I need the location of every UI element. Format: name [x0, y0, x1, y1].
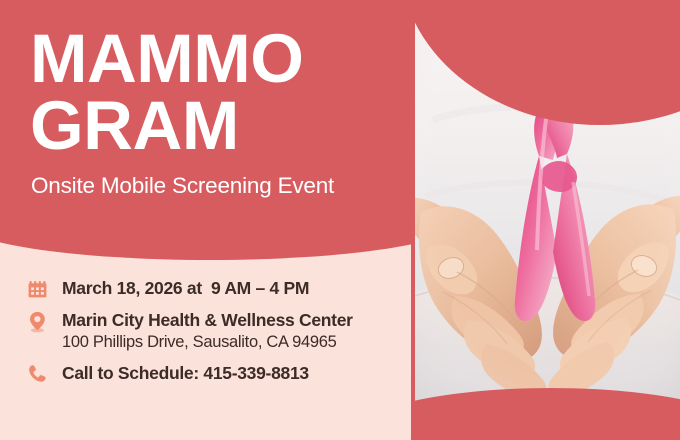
page-title: MAMMO GRAM — [30, 26, 400, 160]
subtitle: Onsite Mobile Screening Event — [31, 174, 400, 199]
event-date-time: March 18, 2026 at 9 AM – 4 PM — [62, 278, 403, 299]
calendar-icon — [28, 278, 62, 298]
venue-name: Marin City Health & Wellness Center — [62, 310, 403, 331]
detail-row-date: March 18, 2026 at 9 AM – 4 PM — [28, 278, 403, 299]
phone-icon — [28, 363, 62, 383]
schedule-phone-number: Call to Schedule: 415-339-8813 — [62, 363, 403, 384]
detail-text-phone: Call to Schedule: 415-339-8813 — [62, 363, 403, 384]
event-details-list: March 18, 2026 at 9 AM – 4 PM Marin City… — [28, 278, 403, 385]
title-block: MAMMO GRAM Onsite Mobile Screening Event — [30, 26, 400, 199]
detail-row-phone: Call to Schedule: 415-339-8813 — [28, 363, 403, 384]
bottom-red-band-decoration — [411, 388, 680, 440]
photo-column — [411, 0, 680, 440]
detail-text-date: March 18, 2026 at 9 AM – 4 PM — [62, 278, 403, 299]
venue-address: 100 Phillips Drive, Sausalito, CA 94965 — [62, 333, 403, 353]
location-pin-icon — [28, 310, 62, 333]
detail-row-location: Marin City Health & Wellness Center 100 … — [28, 310, 403, 352]
detail-text-location: Marin City Health & Wellness Center 100 … — [62, 310, 403, 352]
mammogram-event-flyer: MAMMO GRAM Onsite Mobile Screening Event — [0, 0, 680, 440]
content-column: MAMMO GRAM Onsite Mobile Screening Event — [0, 0, 411, 440]
